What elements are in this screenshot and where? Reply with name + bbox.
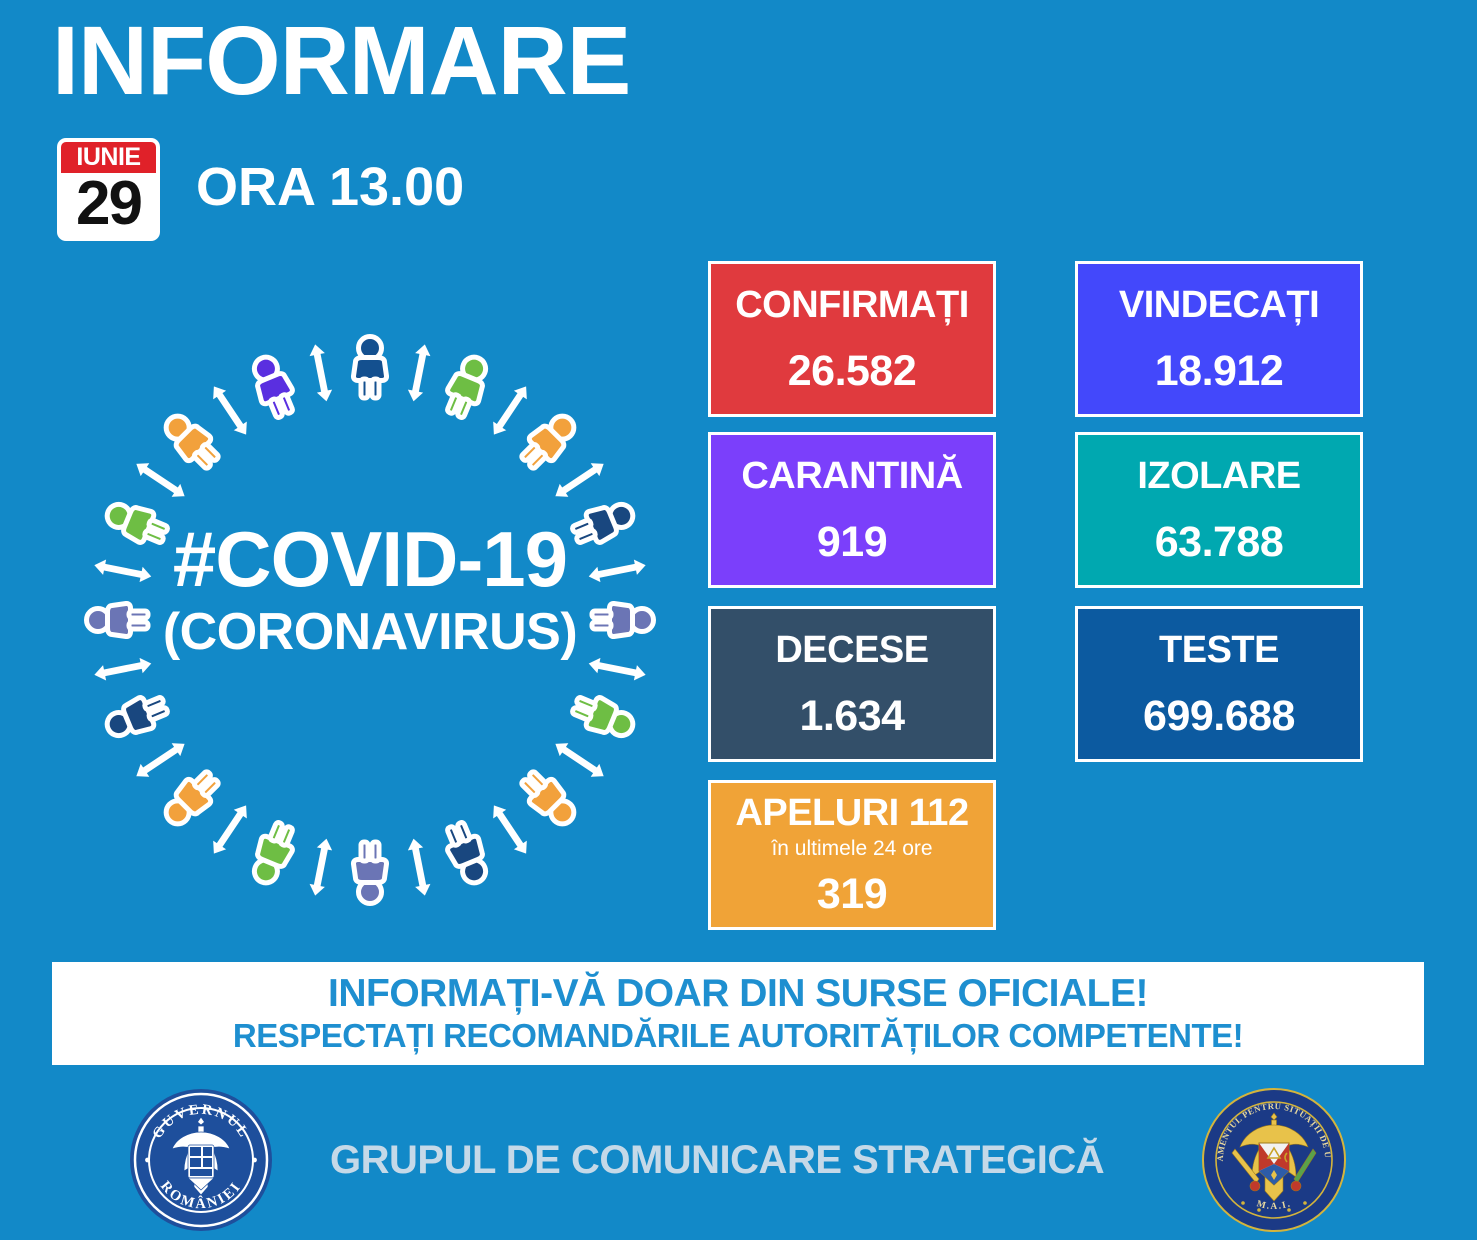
person-icon <box>246 352 300 421</box>
stat-label-vindecati: VINDECAȚI <box>1119 286 1319 324</box>
person-icon <box>515 408 582 475</box>
person-icon <box>87 603 149 636</box>
stat-label-confirmati: CONFIRMAȚI <box>735 286 969 324</box>
stat-value-vindecati: 18.912 <box>1155 350 1284 393</box>
calendar-day-label: 29 <box>61 173 156 237</box>
stat-card-decese: DECESE 1.634 <box>708 606 996 762</box>
person-icon <box>569 690 638 744</box>
stat-label-apeluri: APELURI 112 <box>735 794 968 832</box>
person-icon <box>158 408 225 475</box>
stat-sublabel-apeluri: în ultimele 24 ore <box>771 838 932 859</box>
stat-value-teste: 699.688 <box>1143 695 1295 738</box>
stat-card-apeluri: APELURI 112 în ultimele 24 ore 319 <box>708 780 996 930</box>
person-icon <box>158 765 225 832</box>
banner-line-1: INFORMAȚI-VĂ DOAR DIN SURSE OFICIALE! <box>328 974 1148 1015</box>
person-icon <box>440 819 494 888</box>
stat-card-vindecati: VINDECAȚI 18.912 <box>1075 261 1363 417</box>
person-icon <box>102 690 171 744</box>
banner-line-2: RESPECTAȚI RECOMANDĂRILE AUTORITĂȚILOR C… <box>233 1019 1243 1054</box>
guvernul-romaniei-seal-icon: GUVERNUL ROMÂNIEI <box>128 1087 274 1233</box>
stat-label-izolare: IZOLARE <box>1137 457 1300 495</box>
person-icon <box>569 496 638 550</box>
infographic-page: INFORMARE IUNIE 29 ORA 13.00 <box>0 0 1477 1240</box>
stat-value-confirmati: 26.582 <box>788 350 917 393</box>
page-title: INFORMARE <box>52 8 630 115</box>
person-icon <box>353 337 386 399</box>
person-icon <box>246 819 300 888</box>
stat-value-carantina: 919 <box>817 521 887 564</box>
stat-label-teste: TESTE <box>1159 631 1279 669</box>
stat-label-carantina: CARANTINĂ <box>741 457 962 495</box>
stat-card-izolare: IZOLARE 63.788 <box>1075 432 1363 588</box>
people-circle-svg <box>55 305 685 935</box>
stat-card-confirmati: CONFIRMAȚI 26.582 <box>708 261 996 417</box>
person-icon <box>353 842 386 904</box>
stat-value-apeluri: 319 <box>817 873 887 916</box>
people-circle-icon: #COVID-19 (CORONAVIRUS) <box>55 305 685 935</box>
calendar-icon: IUNIE 29 <box>57 138 160 241</box>
stat-card-carantina: CARANTINĂ 919 <box>708 432 996 588</box>
stat-value-decese: 1.634 <box>799 695 904 738</box>
stat-label-decese: DECESE <box>775 631 928 669</box>
calendar-month-label: IUNIE <box>76 145 140 170</box>
stat-card-teste: TESTE 699.688 <box>1075 606 1363 762</box>
person-group <box>87 337 654 904</box>
person-icon <box>440 352 494 421</box>
stat-value-izolare: 63.788 <box>1155 521 1284 564</box>
person-icon <box>515 765 582 832</box>
person-icon <box>592 603 654 636</box>
person-icon <box>102 496 171 550</box>
dsu-mai-seal-icon: DEPARTAMENTUL PENTRU SITUAȚII DE URGENȚĂ… <box>1201 1087 1347 1233</box>
report-hour: ORA 13.00 <box>196 156 464 218</box>
official-sources-banner: INFORMAȚI-VĂ DOAR DIN SURSE OFICIALE! RE… <box>52 962 1424 1065</box>
footer-organization-name: GRUPUL DE COMUNICARE STRATEGICĂ <box>330 1140 1104 1180</box>
